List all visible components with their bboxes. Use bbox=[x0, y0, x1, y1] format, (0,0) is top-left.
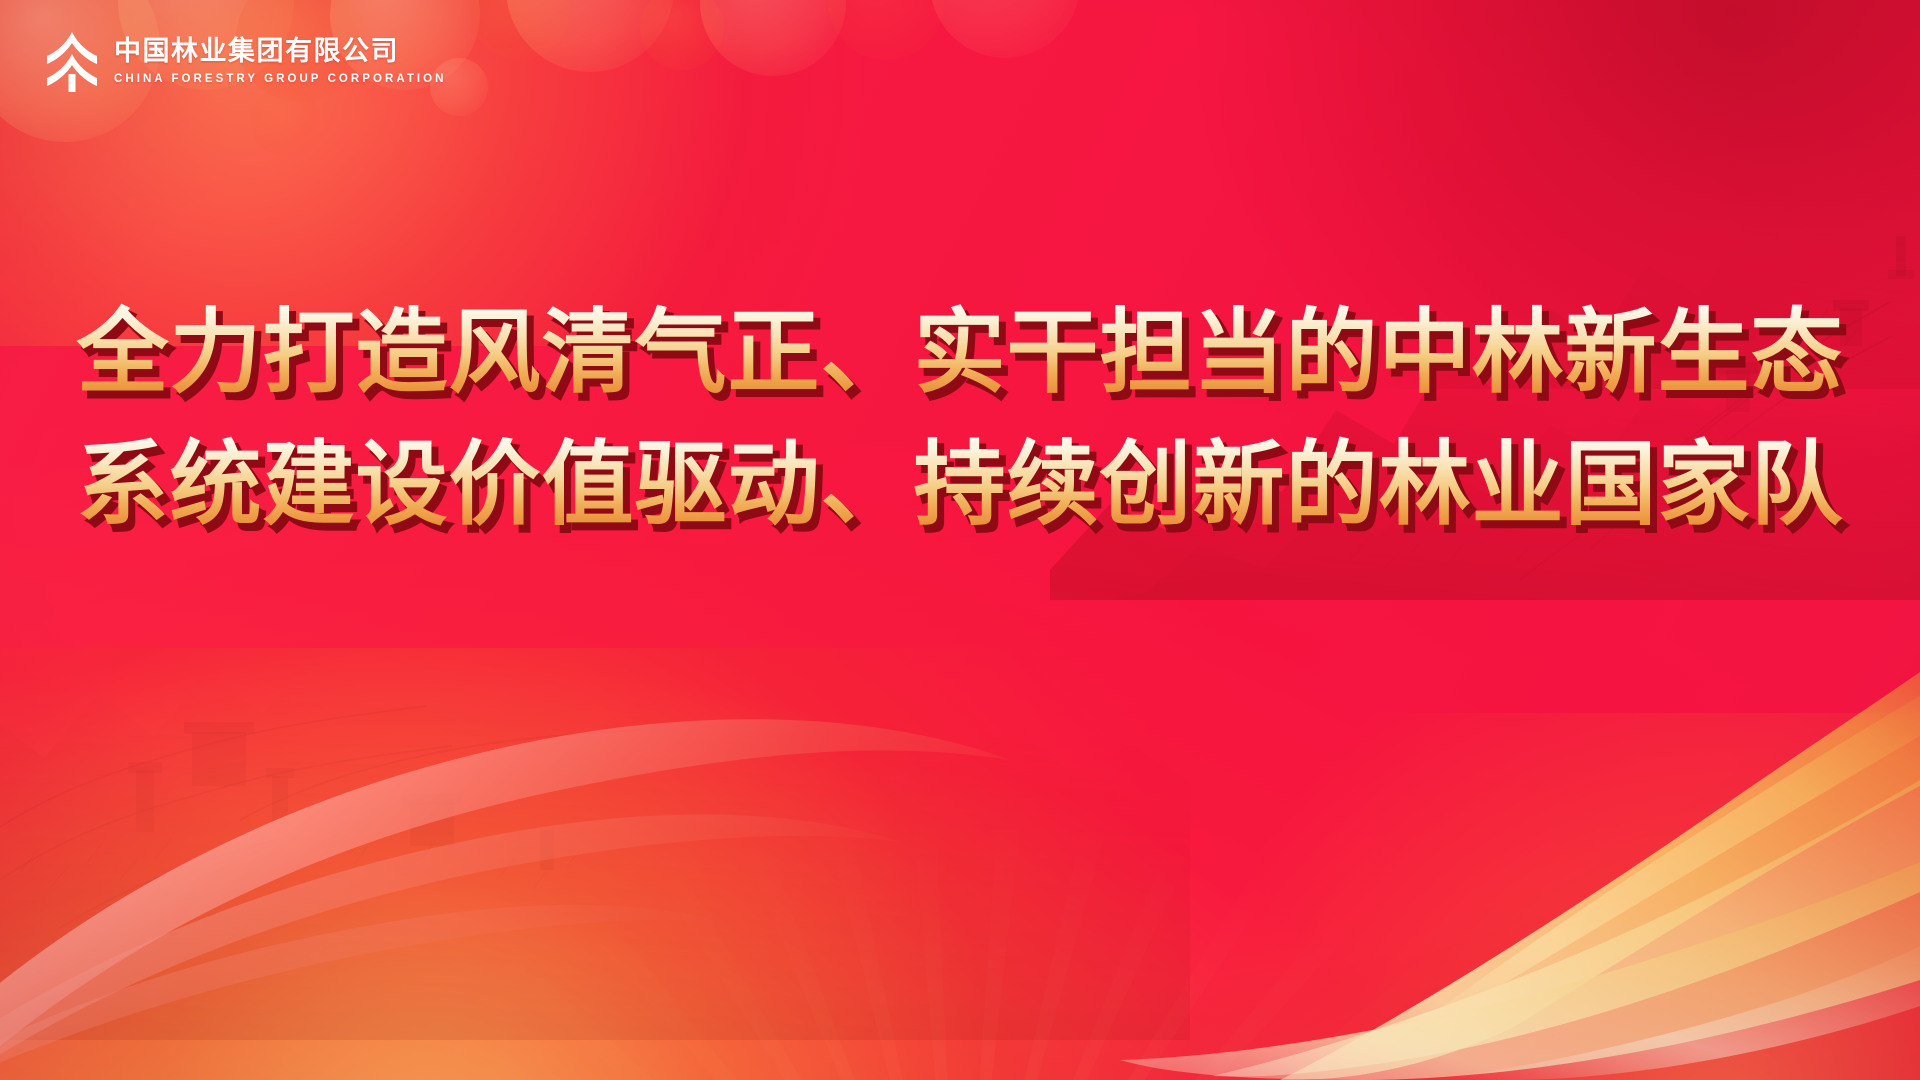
banner-canvas: 中国林业集团有限公司 CHINA FORESTRY GROUP CORPORAT… bbox=[0, 0, 1920, 1080]
logo-company-name-cn: 中国林业集团有限公司 bbox=[114, 37, 447, 67]
headline-line-2: 系统建设价值驱动、持续创新的林业国家队 系统建设价值驱动、持续创新的林业国家队 bbox=[44, 428, 1876, 542]
headline-line-1: 全力打造风清气正、实干担当的中林新生态 全力打造风清气正、实干担当的中林新生态 bbox=[44, 296, 1876, 410]
logo-text-group: 中国林业集团有限公司 CHINA FORESTRY GROUP CORPORAT… bbox=[114, 37, 447, 85]
headline-block: 全力打造风清气正、实干担当的中林新生态 全力打造风清气正、实干担当的中林新生态 … bbox=[0, 296, 1920, 542]
headline-line-1-text: 全力打造风清气正、实干担当的中林新生态 bbox=[76, 299, 1843, 406]
headline-line-2-text: 系统建设价值驱动、持续创新的林业国家队 bbox=[76, 431, 1843, 538]
logo-company-name-en: CHINA FORESTRY GROUP CORPORATION bbox=[114, 73, 447, 86]
logo-block[interactable]: 中国林业集团有限公司 CHINA FORESTRY GROUP CORPORAT… bbox=[44, 30, 447, 92]
cfgc-tree-chevron-icon bbox=[44, 30, 100, 92]
